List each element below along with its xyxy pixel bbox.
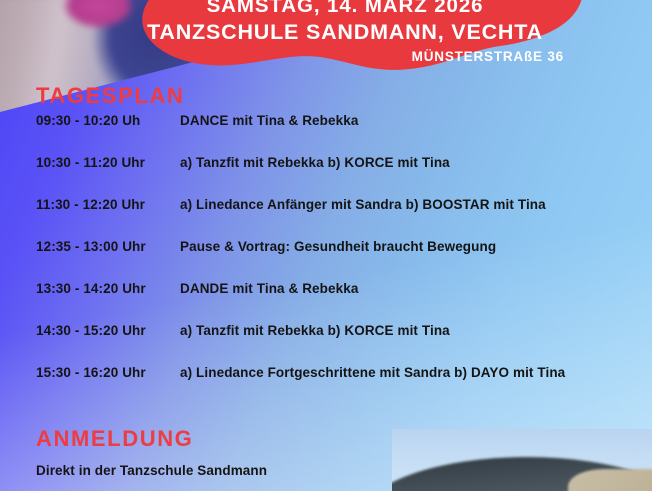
schedule-list: 09:30 - 10:20 Uh DANCE mit Tina & Rebekk… (0, 113, 652, 407)
schedule-time: 12:35 - 13:00 Uhr (36, 239, 146, 254)
schedule-row: 14:30 - 15:20 Uhr a) Tanzfit mit Rebekka… (0, 323, 652, 365)
headline-venue: TANZSCHULE SANDMANN, VECHTA (120, 18, 570, 46)
schedule-row: 13:30 - 14:20 Uhr DANDE mit Tina & Rebek… (0, 281, 652, 323)
schedule-row: 09:30 - 10:20 Uh DANCE mit Tina & Rebekk… (0, 113, 652, 155)
schedule-time: 09:30 - 10:20 Uh (36, 113, 140, 128)
schedule-time: 15:30 - 16:20 Uhr (36, 365, 146, 380)
headline-street: MÜNSTERSTRAßE 36 (120, 49, 570, 65)
event-poster: SAMSTAG, 14. MÄRZ 2026 TANZSCHULE SANDMA… (0, 0, 652, 491)
schedule-description: a) Linedance Fortgeschrittene mit Sandra… (180, 365, 565, 380)
schedule-row: 10:30 - 11:20 Uhr a) Tanzfit mit Rebekka… (0, 155, 652, 197)
photo-sand-shape (568, 469, 652, 491)
schedule-description: a) Linedance Anfänger mit Sandra b) BOOS… (180, 197, 546, 212)
registration-heading: ANMELDUNG (36, 426, 193, 452)
schedule-time: 14:30 - 15:20 Uhr (36, 323, 146, 338)
schedule-row: 15:30 - 16:20 Uhr a) Linedance Fortgesch… (0, 365, 652, 407)
schedule-time: 13:30 - 14:20 Uhr (36, 281, 146, 296)
schedule-row: 12:35 - 13:00 Uhr Pause & Vortrag: Gesun… (0, 239, 652, 281)
schedule-time: 11:30 - 12:20 Uhr (36, 197, 145, 212)
schedule-row: 11:30 - 12:20 Uhr a) Linedance Anfänger … (0, 197, 652, 239)
schedule-description: Pause & Vortrag: Gesundheit braucht Bewe… (180, 239, 496, 254)
bottom-right-photo (392, 429, 652, 491)
registration-line: Direkt in der Tanzschule Sandmann (36, 463, 267, 478)
headline-block: SAMSTAG, 14. MÄRZ 2026 TANZSCHULE SANDMA… (120, 0, 570, 65)
schedule-description: DANCE mit Tina & Rebekka (180, 113, 358, 128)
schedule-time: 10:30 - 11:20 Uhr (36, 155, 145, 170)
schedule-heading: TAGESPLAN (36, 83, 184, 109)
schedule-description: a) Tanzfit mit Rebekka b) KORCE mit Tina (180, 323, 450, 338)
headline-date: SAMSTAG, 14. MÄRZ 2026 (120, 0, 570, 15)
schedule-description: a) Tanzfit mit Rebekka b) KORCE mit Tina (180, 155, 450, 170)
schedule-description: DANDE mit Tina & Rebekka (180, 281, 358, 296)
